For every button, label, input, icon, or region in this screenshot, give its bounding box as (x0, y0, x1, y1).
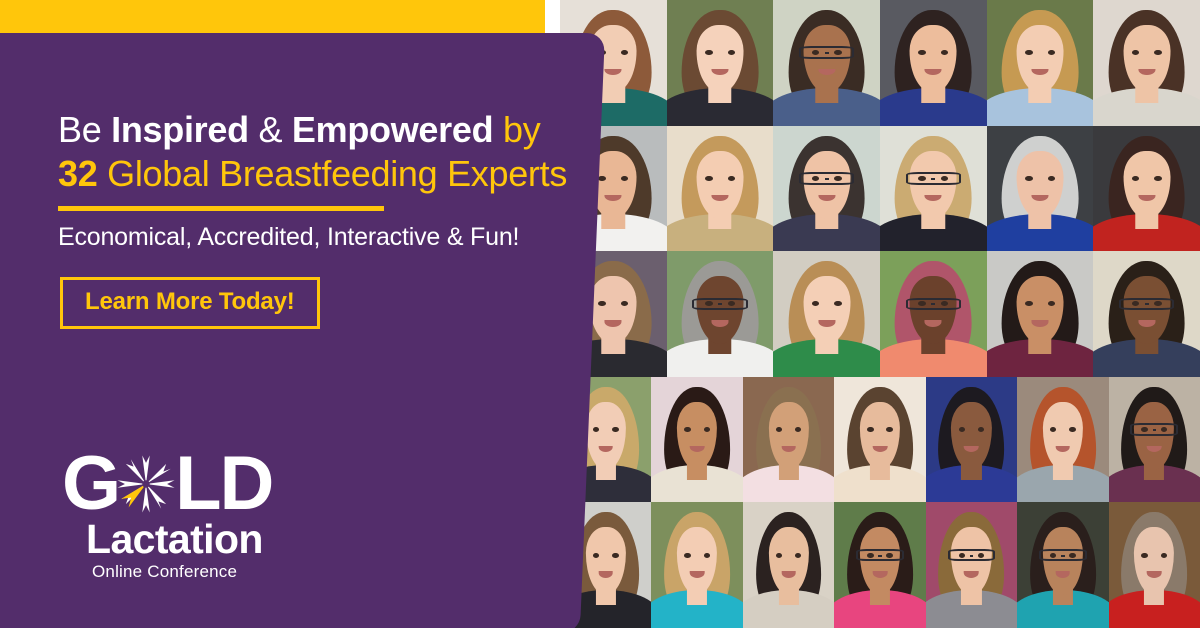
subtitle: Economical, Accredited, Interactive & Fu… (58, 223, 519, 252)
mosaic-row (560, 0, 1200, 126)
headline-line-2: 32 Global Breastfeeding Experts (58, 152, 568, 196)
headline: Be Inspired & Empowered by 32 Global Bre… (58, 108, 568, 195)
portrait-24 (1017, 377, 1108, 503)
portrait-22 (834, 377, 925, 503)
headline-ampersand: & (249, 109, 292, 150)
headline-word-empowered: Empowered (292, 109, 493, 150)
portrait-9 (773, 126, 880, 252)
gold-lactation-logo: G (62, 452, 332, 582)
yellow-divider (58, 206, 384, 211)
mosaic-row (560, 377, 1200, 503)
logo-letter-g: G (62, 455, 119, 513)
mosaic-row (560, 126, 1200, 252)
portrait-29 (834, 502, 925, 628)
portrait-2 (667, 0, 774, 126)
headline-experts-text: Global Breastfeeding Experts (97, 153, 567, 194)
portrait-17 (987, 251, 1094, 377)
portrait-10 (880, 126, 987, 252)
headline-word-be: Be (58, 109, 111, 150)
mosaic-row (560, 251, 1200, 377)
portrait-32 (1109, 502, 1200, 628)
portrait-28 (743, 502, 834, 628)
portrait-21 (743, 377, 834, 503)
portrait-5 (987, 0, 1094, 126)
logo-word-lactation: Lactation (62, 518, 332, 561)
headline-word-inspired: Inspired (111, 109, 249, 150)
starburst-icon (115, 453, 177, 515)
headline-expert-count: 32 (58, 153, 97, 194)
portrait-12 (1093, 126, 1200, 252)
portrait-18 (1093, 251, 1200, 377)
portrait-11 (987, 126, 1094, 252)
mosaic-row (560, 502, 1200, 628)
portrait-6 (1093, 0, 1200, 126)
portrait-27 (651, 502, 742, 628)
logo-letters-ld: LD (175, 455, 272, 513)
learn-more-button[interactable]: Learn More Today! (60, 277, 320, 329)
promo-banner: Be Inspired & Empowered by 32 Global Bre… (0, 0, 1200, 628)
logo-tagline: Online Conference (62, 562, 332, 582)
portrait-15 (773, 251, 880, 377)
portrait-16 (880, 251, 987, 377)
portrait-20 (651, 377, 742, 503)
panel-content: Be Inspired & Empowered by 32 Global Bre… (0, 0, 600, 628)
portrait-4 (880, 0, 987, 126)
speaker-photo-mosaic (560, 0, 1200, 628)
portrait-3 (773, 0, 880, 126)
portrait-31 (1017, 502, 1108, 628)
portrait-23 (926, 377, 1017, 503)
portrait-30 (926, 502, 1017, 628)
portrait-25 (1109, 377, 1200, 503)
portrait-14 (667, 251, 774, 377)
logo-wordmark-gold: G (62, 452, 332, 516)
headline-word-by: by (493, 109, 540, 150)
portrait-8 (667, 126, 774, 252)
